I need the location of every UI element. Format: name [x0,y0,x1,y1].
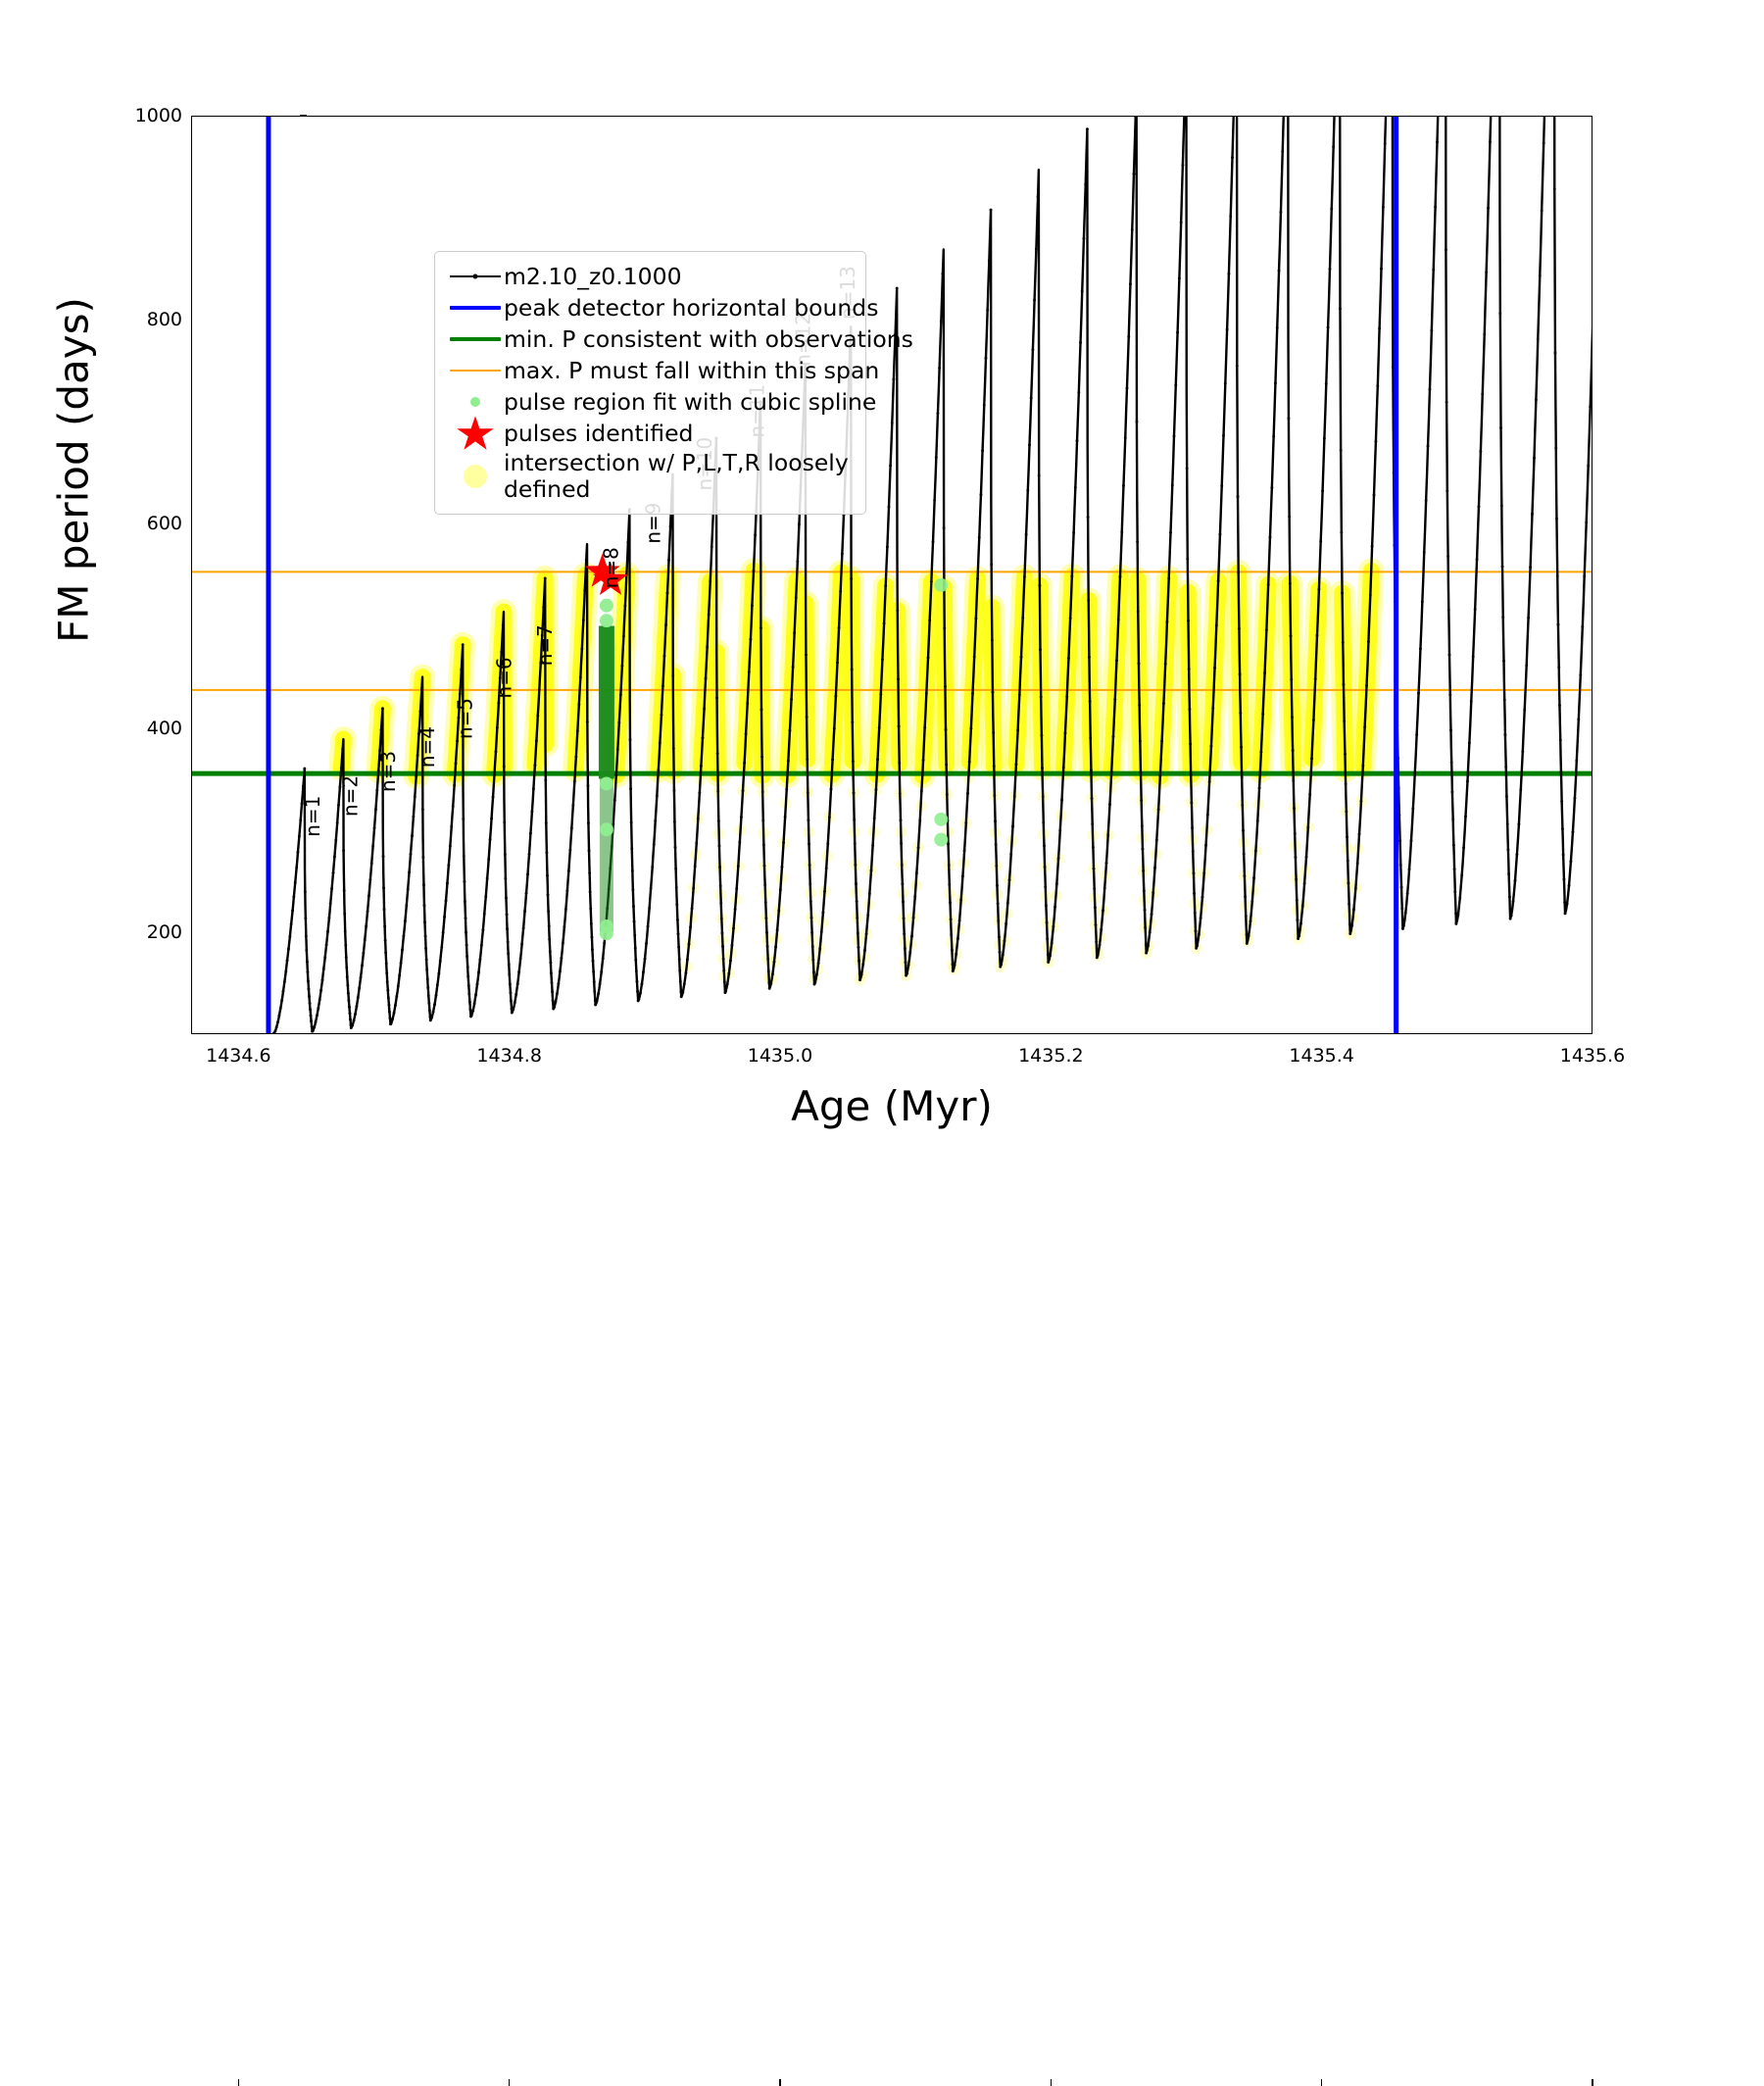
legend-item-max-span[interactable]: max. P must fall within this span [447,355,854,386]
legend-item-intersection[interactable]: intersection w/ P,L,T,R loosely defined [447,449,854,504]
x-tick-label: 1435.2 [1018,1045,1083,1067]
x-tick-label: 1435.4 [1289,1045,1353,1067]
x-axis-title: Age (Myr) [191,1082,1592,1130]
y-tick-label: 200 [147,921,182,943]
y-tick-label: 400 [147,718,182,739]
x-tick-mark [1321,2079,1322,2086]
legend-label-intersection: intersection w/ P,L,T,R loosely defined [504,450,854,503]
legend-label-pulses: pulses identified [504,421,854,447]
x-tick-label: 1435.0 [748,1045,812,1067]
x-tick-label: 1435.6 [1560,1045,1625,1067]
x-tick-mark [779,2079,780,2086]
green-line-key-icon [447,323,504,355]
legend-item-model[interactable]: m2.10_z0.1000 [447,261,854,292]
pulse-label-n-7: n=7 [533,624,557,666]
legend-box[interactable]: m2.10_z0.1000 peak detector horizontal b… [434,251,866,515]
line-marker-key-icon [447,261,504,292]
star-icon [456,414,495,453]
y-tick-label: 1000 [135,105,182,126]
x-axis-ticks: 1434.61434.81435.01435.21435.41435.6 [191,1045,1592,1074]
legend-label-spline: pulse region fit with cubic spline [504,389,876,416]
pulse-label-n-1: n=1 [301,796,324,837]
legend-label-min-period: min. P consistent with observations [504,326,913,353]
yellow-dot-key-icon [447,449,504,504]
x-tick-mark [238,2079,239,2086]
legend-item-spline[interactable]: pulse region fit with cubic spline [447,386,854,418]
figure-canvas: 2004006008001000 n=1n=2n=3n=4n=5n=6n=7n=… [0,0,1764,1176]
legend-item-peak-bounds[interactable]: peak detector horizontal bounds [447,292,854,323]
plot-svg: n=1n=2n=3n=4n=5n=6n=7n=8n=9n=10n=11n=12n… [192,117,1592,1033]
pulse-label-n-4: n=4 [416,726,439,768]
x-tick-label: 1434.8 [476,1045,541,1067]
y-tick-label: 600 [147,513,182,534]
x-tick-mark [1051,2079,1052,2086]
legend-item-min-period[interactable]: min. P consistent with observations [447,323,854,355]
legend-label-model: m2.10_z0.1000 [504,264,854,290]
pulse-label-n-8: n=8 [600,547,623,588]
pulse-label-n-6: n=6 [493,657,516,698]
pulse-label-n-2: n=2 [338,775,362,817]
pulse-label-n-3: n=3 [376,751,400,792]
plot-area: n=1n=2n=3n=4n=5n=6n=7n=8n=9n=10n=11n=12n… [191,116,1592,1034]
pulse-label-n-5: n=5 [454,698,477,739]
y-axis-ticks: 2004006008001000 [116,116,182,1034]
legend-label-peak-bounds: peak detector horizontal bounds [504,295,878,322]
red-star-key-icon [447,418,504,449]
legend-label-max-span: max. P must fall within this span [504,358,879,384]
x-tick-mark [509,2079,510,2086]
blue-line-key-icon [447,292,504,323]
x-tick-mark [1592,2079,1592,2086]
x-tick-label: 1434.6 [206,1045,270,1067]
orange-line-key-icon [447,355,504,386]
y-axis-title: FM period (days) [50,196,98,745]
y-tick-label: 800 [147,309,182,330]
legend-item-pulses[interactable]: pulses identified [447,418,854,449]
